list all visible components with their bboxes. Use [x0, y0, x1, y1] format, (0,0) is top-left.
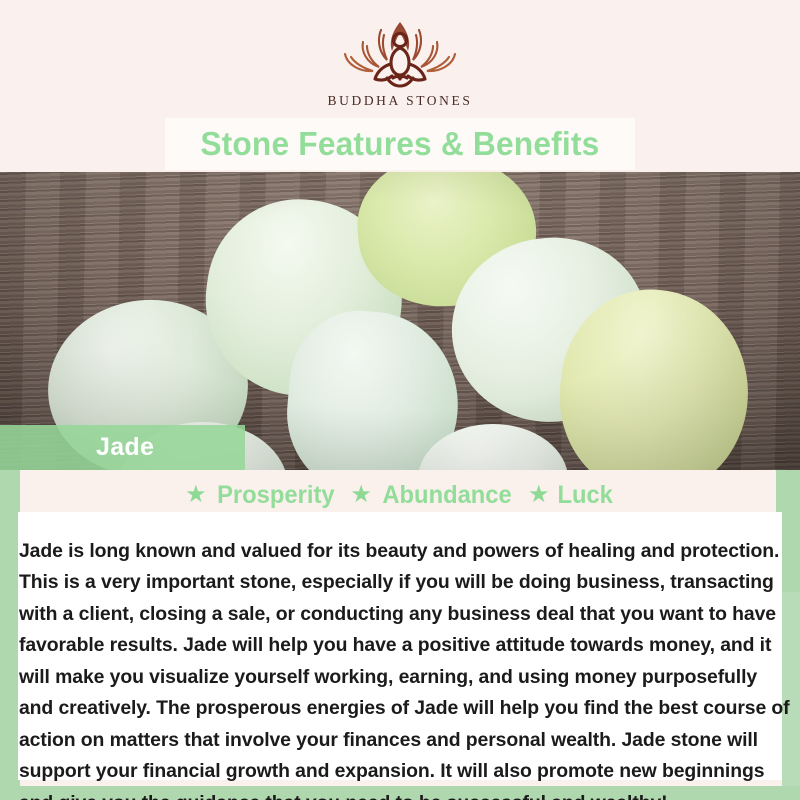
benefit-label: Prosperity	[217, 481, 334, 510]
description-panel: Jade is long known and valued for its be…	[18, 512, 800, 800]
star-icon: ★	[528, 483, 550, 507]
benefit-item-abundance: ★ Abundance	[350, 481, 515, 510]
star-icon: ★	[350, 483, 372, 507]
stone-name-label: Jade	[96, 433, 154, 462]
benefit-item-prosperity: ★ Prosperity	[185, 481, 337, 510]
lotus-meditation-figure-icon	[337, 18, 463, 90]
decor-accent-left-lower	[0, 455, 20, 800]
star-icon: ★	[185, 483, 207, 507]
title-banner: Stone Features & Benefits	[165, 118, 635, 170]
description-text: Jade is long known and valued for its be…	[18, 532, 793, 800]
benefit-label: Luck	[558, 481, 613, 510]
stone-name-bar: Jade	[0, 425, 245, 470]
brand-name: BUDDHA STONES	[328, 93, 473, 109]
benefits-row: ★ Prosperity ★ Abundance ★ Luck	[18, 478, 782, 512]
page-title: Stone Features & Benefits	[200, 125, 599, 163]
benefit-label: Abundance	[382, 481, 511, 510]
benefit-item-luck: ★ Luck	[528, 481, 615, 510]
brand-logo-block: BUDDHA STONES	[0, 18, 800, 109]
stone-info-card: BUDDHA STONES Stone Features & Benefits …	[0, 0, 800, 800]
